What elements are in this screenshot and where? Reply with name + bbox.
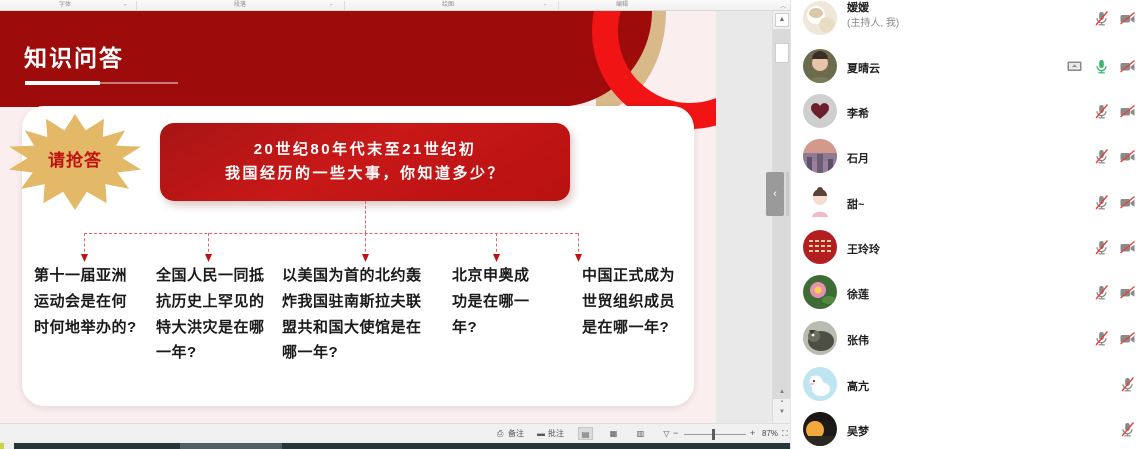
participant-controls: [1091, 282, 1139, 302]
microphone-muted-icon[interactable]: [1117, 374, 1139, 394]
participant-row[interactable]: 嫒嫒 (主持人, 我): [791, 0, 1146, 42]
ribbon-collapse-icon[interactable]: ︿: [780, 1, 786, 10]
participant-row[interactable]: 甜~: [791, 180, 1146, 226]
connector-drop: [84, 233, 85, 257]
participant-row[interactable]: 夏晴云: [791, 44, 1146, 90]
taskbar-item[interactable]: [180, 443, 282, 449]
zoom-level-value: 87%: [762, 427, 778, 440]
scroll-up-icon[interactable]: ▲: [775, 13, 789, 27]
participant-name: 高亢: [847, 378, 869, 394]
taskbar-item[interactable]: [282, 443, 790, 449]
taskbar-item[interactable]: [14, 443, 180, 449]
avatar: [803, 94, 837, 128]
participant-controls: [1091, 101, 1139, 121]
connector-drop: [496, 233, 497, 257]
participant-row[interactable]: 石月: [791, 134, 1146, 180]
camera-off-icon[interactable]: [1117, 146, 1139, 166]
avatar: [803, 139, 837, 173]
participant-controls: [1117, 419, 1139, 439]
connector-bar: [84, 233, 578, 234]
slide: 知识问答 请抢答 20世纪80年代末至21世纪初 我国经历的一些大事，你知道多少…: [0, 11, 716, 423]
comment-icon[interactable]: ▬: [537, 428, 545, 439]
reading-view-icon[interactable]: ▥: [633, 427, 648, 440]
microphone-muted-icon[interactable]: [1117, 419, 1139, 439]
microphone-muted-icon[interactable]: [1091, 101, 1113, 121]
participant-controls: [1064, 56, 1139, 76]
microphone-muted-icon[interactable]: [1091, 8, 1113, 28]
ribbon-group-paragraph[interactable]: 段落: [140, 0, 340, 11]
participant-name: 张伟: [847, 332, 869, 348]
title-underline-faint: [100, 82, 178, 84]
participant-controls: [1091, 328, 1139, 348]
avatar: [803, 230, 837, 264]
microphone-muted-icon[interactable]: [1091, 328, 1113, 348]
question-column-3: 以美国为首的北约轰炸我国驻南斯拉夫联盟共和国大使馆是在哪一年?: [282, 263, 430, 366]
microphone-on-icon[interactable]: [1091, 56, 1113, 76]
notes-button[interactable]: 备注: [508, 427, 524, 440]
meeting-screen-share-window: 字体 ⌐ 段落 ⌐ 绘图 ⌐ 编辑 ︿ 知识问答 请抢答: [0, 0, 1146, 449]
microphone-muted-icon[interactable]: [1091, 146, 1113, 166]
participant-name: 徐莲: [847, 286, 869, 302]
avatar: [803, 49, 837, 83]
participant-controls: [1117, 374, 1139, 394]
participant-controls: [1091, 8, 1139, 28]
question-column-4: 北京申奥成功是在哪一年?: [452, 263, 544, 366]
participant-name: 嫒嫒: [847, 0, 869, 15]
participant-name: 李希: [847, 105, 869, 121]
normal-view-icon[interactable]: ▤: [578, 427, 593, 440]
desktop-taskbar: [0, 441, 790, 449]
avatar: [803, 275, 837, 309]
title-underline-strong: [25, 81, 100, 85]
slide-vertical-scrollbar[interactable]: ▲ ▲ ▪ ▼: [772, 11, 790, 423]
avatar: [803, 412, 837, 446]
participant-row[interactable]: 王玲玲: [791, 225, 1146, 271]
scroll-menu-icon[interactable]: ▪: [778, 399, 786, 406]
powerpoint-pane: 字体 ⌐ 段落 ⌐ 绘图 ⌐ 编辑 ︿ 知识问答 请抢答: [0, 0, 790, 449]
ribbon-group-drawing[interactable]: 绘图: [348, 0, 548, 11]
slide-sorter-icon[interactable]: ▦: [606, 427, 621, 440]
participant-controls: [1091, 192, 1139, 212]
scrollbar-thumb[interactable]: [775, 43, 789, 63]
powerpoint-status-bar: ⎙ 备注 ▬ 批注 ▤ ▦ ▥ ▽ − + 87% ⛶: [0, 423, 790, 441]
comments-button[interactable]: 批注: [548, 427, 564, 440]
previous-slide-icon[interactable]: ▲: [778, 389, 786, 396]
camera-off-icon[interactable]: [1117, 282, 1139, 302]
avatar: [803, 367, 837, 401]
participant-row[interactable]: 徐莲: [791, 270, 1146, 316]
connector-drop: [365, 233, 366, 257]
ribbon-divider: [344, 1, 345, 10]
participant-row[interactable]: 李希: [791, 89, 1146, 135]
avatar: [803, 185, 837, 219]
zoom-out-icon[interactable]: −: [673, 427, 678, 440]
ribbon-group-editing[interactable]: 编辑: [562, 0, 682, 11]
paragraph-dialog-launcher-icon[interactable]: ⌐: [330, 2, 336, 8]
ribbon-divider: [136, 1, 137, 10]
participant-name: 吴梦: [847, 423, 869, 439]
camera-off-icon[interactable]: [1117, 8, 1139, 28]
fit-slide-icon[interactable]: ⛶: [782, 428, 788, 439]
camera-off-icon[interactable]: [1117, 101, 1139, 121]
participant-name: 夏晴云: [847, 60, 880, 76]
question-banner: 20世纪80年代末至21世纪初 我国经历的一些大事，你知道多少？: [160, 123, 570, 201]
microphone-muted-icon[interactable]: [1091, 282, 1113, 302]
banner-line-2: 我国经历的一些大事，你知道多少？: [225, 162, 505, 186]
question-column-1: 第十一届亚洲运动会是在何时何地举办的?: [34, 263, 138, 366]
connector-drop: [208, 233, 209, 257]
camera-off-icon[interactable]: [1117, 237, 1139, 257]
participant-controls: [1091, 146, 1139, 166]
camera-off-icon[interactable]: [1117, 328, 1139, 348]
camera-off-icon[interactable]: [1117, 192, 1139, 212]
drawing-dialog-launcher-icon[interactable]: ⌐: [544, 2, 550, 8]
camera-off-icon[interactable]: [1117, 56, 1139, 76]
participant-controls: [1091, 237, 1139, 257]
question-columns: 第十一届亚洲运动会是在何时何地举办的? 全国人民一同抵抗历史上罕见的特大洪灾是在…: [30, 263, 690, 366]
participant-name: 甜~: [847, 196, 864, 212]
microphone-muted-icon[interactable]: [1091, 192, 1113, 212]
question-column-5: 中国正式成为世贸组织成员是在哪一年?: [582, 263, 690, 366]
participant-name: 王玲玲: [847, 241, 880, 257]
participant-row[interactable]: 吴梦: [791, 407, 1146, 449]
zoom-slider-track[interactable]: [684, 434, 746, 435]
avatar: [803, 321, 837, 355]
slideshow-icon[interactable]: ▽: [659, 427, 674, 440]
avatar: [803, 1, 837, 35]
microphone-muted-icon[interactable]: [1091, 237, 1113, 257]
taskbar-accent: [0, 443, 4, 449]
panel-divider: [786, 172, 789, 216]
notes-icon[interactable]: ⎙: [497, 428, 503, 439]
connector-drop: [578, 233, 579, 257]
zoom-in-icon[interactable]: +: [750, 427, 755, 440]
zoom-slider-thumb[interactable]: [712, 429, 715, 440]
participant-name: 石月: [847, 150, 869, 166]
font-dialog-launcher-icon[interactable]: ⌐: [124, 2, 130, 8]
chevron-left-icon[interactable]: ‹: [766, 172, 784, 216]
participants-sidebar: 嫒嫒 (主持人, 我) 夏晴云: [790, 0, 1146, 449]
slide-canvas-area: 知识问答 请抢答 20世纪80年代末至21世纪初 我国经历的一些大事，你知道多少…: [0, 11, 772, 423]
connector-stem: [365, 201, 366, 233]
participant-role: (主持人, 我): [847, 14, 899, 29]
screen-share-icon[interactable]: [1064, 56, 1086, 76]
question-column-2: 全国人民一同抵抗历史上罕见的特大洪灾是在哪一年?: [156, 263, 268, 366]
ribbon-strip: 字体 ⌐ 段落 ⌐ 绘图 ⌐ 编辑 ︿: [0, 0, 790, 11]
participant-row[interactable]: 张伟: [791, 316, 1146, 362]
starburst-label: 请抢答: [9, 146, 141, 171]
slide-title: 知识问答: [24, 39, 124, 73]
next-slide-icon[interactable]: ▼: [778, 409, 786, 416]
ribbon-group-font[interactable]: 字体: [0, 0, 130, 11]
banner-line-1: 20世纪80年代末至21世纪初: [254, 138, 477, 162]
participant-row[interactable]: 高亢: [791, 362, 1146, 408]
ribbon-divider: [558, 1, 559, 10]
